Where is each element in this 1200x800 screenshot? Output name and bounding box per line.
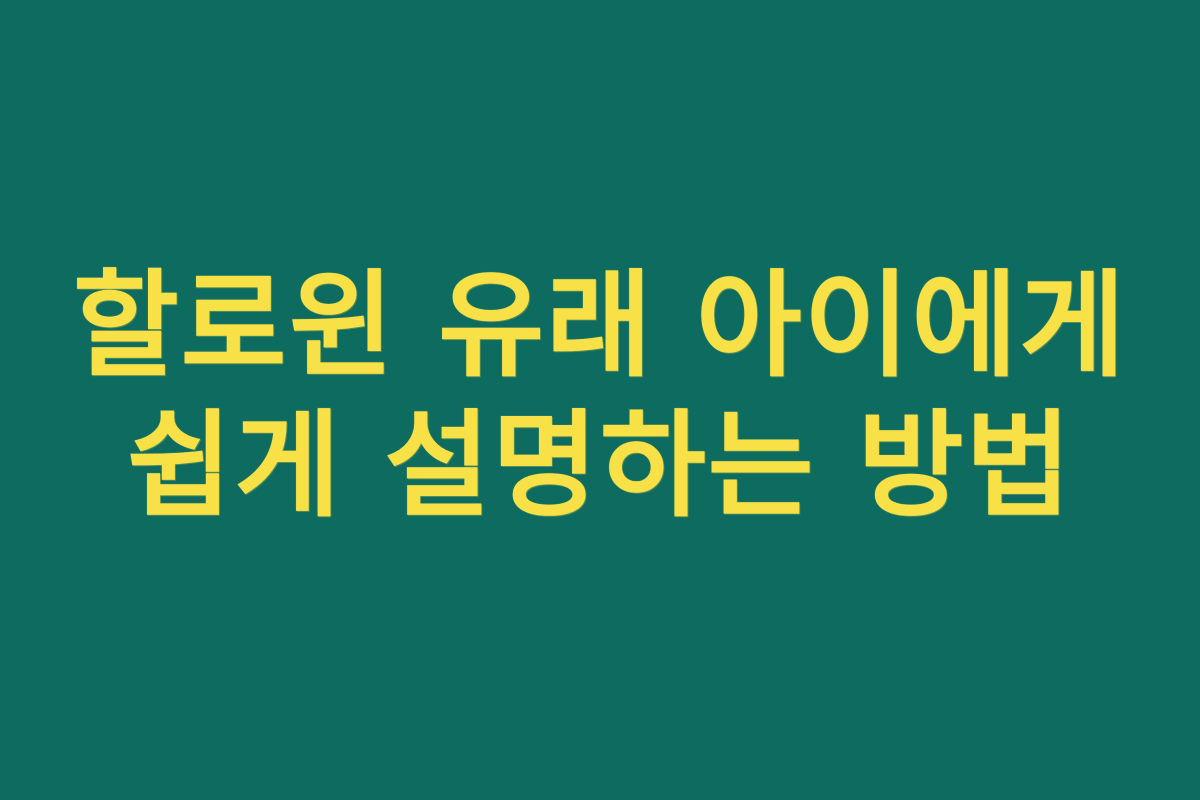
banner-canvas: 할로윈 유래 아이에게 쉽게 설명하는 방법 (0, 0, 1200, 800)
headline-line-2: 쉽게 설명하는 방법 (0, 396, 1200, 536)
headline-line-1: 할로윈 유래 아이에게 (0, 256, 1200, 396)
headline-block: 할로윈 유래 아이에게 쉽게 설명하는 방법 (0, 256, 1200, 536)
